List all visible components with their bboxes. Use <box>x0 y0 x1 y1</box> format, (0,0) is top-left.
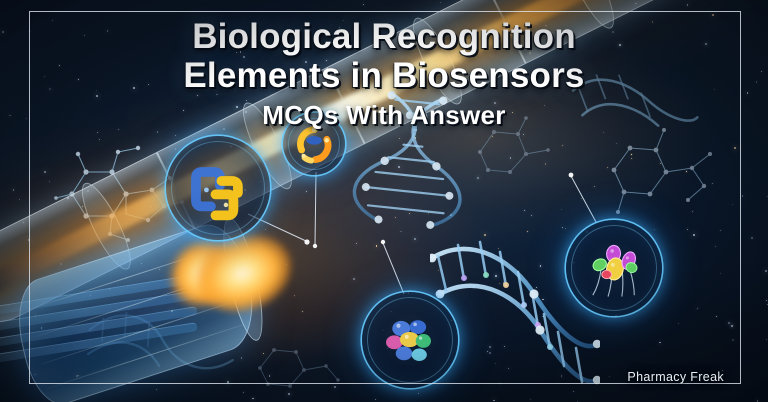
callout-bubble-enzyme[interactable] <box>283 113 345 175</box>
sensor-cylinder-device <box>9 215 263 402</box>
title-line-1: Biological Recognition <box>0 17 768 56</box>
watermark-label: Pharmacy Freak <box>627 370 724 384</box>
dna-double-helix-icon <box>348 86 481 233</box>
dna-double-helix-icon <box>567 48 702 157</box>
protein-receptor-cluster-icon <box>375 305 444 374</box>
title-subtitle: MCQs With Answer <box>0 100 768 130</box>
title-block: Biological Recognition Elements in Biose… <box>0 17 768 130</box>
dna-double-helix-icon <box>80 290 241 402</box>
molecular-wireframe-icon <box>468 112 560 186</box>
whole-cell-microorganism-icon <box>579 233 648 302</box>
callout-bubble-antibody[interactable] <box>166 136 270 240</box>
enzyme-cycle-icon <box>290 120 338 168</box>
sensor-cylinder-rods <box>0 300 200 374</box>
cylinder-reaction-glow <box>166 232 245 314</box>
banner-graphic: Biological Recognition Elements in Biose… <box>0 0 768 402</box>
antibody-lock-and-key-icon <box>181 151 256 226</box>
title-line-2: Elements in Biosensors <box>0 56 768 95</box>
callout-bubble-cells[interactable] <box>566 220 662 316</box>
molecular-wireframe-icon <box>600 120 730 224</box>
molecular-wireframe-icon <box>250 334 360 398</box>
callout-bubble-protein[interactable] <box>362 292 458 388</box>
